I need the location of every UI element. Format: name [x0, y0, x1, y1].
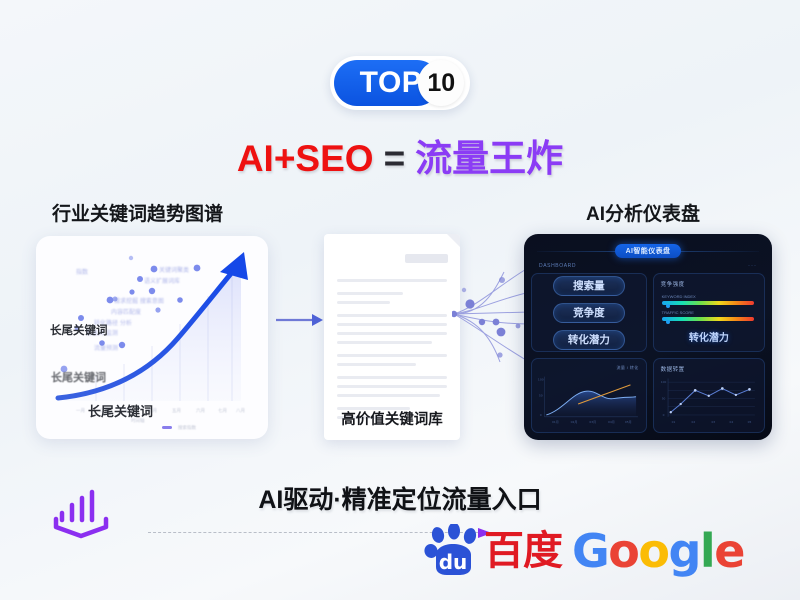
- right-section-caption: AI分析仪表盘: [586, 199, 700, 226]
- baidu-logo: du 百度: [424, 524, 562, 578]
- search-engine-logos: du 百度 Google: [424, 524, 744, 578]
- google-letter-o2: o: [638, 524, 668, 578]
- baidu-paw-icon: du: [424, 524, 482, 578]
- svg-text:语义扩展词库: 语义扩展词库: [144, 277, 180, 285]
- svg-text:一月: 一月: [76, 408, 85, 414]
- svg-text:五月: 五月: [172, 408, 181, 414]
- gauge-bar-2: [662, 317, 754, 321]
- dashboard-title-badge: AI智能仪表盘: [615, 244, 682, 258]
- keyword-library-document: 高价值关键词库: [324, 234, 460, 440]
- svg-text:关键词聚类: 关键词聚类: [159, 266, 189, 274]
- gauge-marker-1: [666, 304, 670, 308]
- footer-tagline: AI驱动·精准定位流量入口: [0, 480, 800, 516]
- top-badge-label: TOP: [360, 68, 423, 98]
- svg-text:八月: 八月: [236, 408, 245, 414]
- svg-text:内容匹配度: 内容匹配度: [111, 308, 141, 316]
- dashboard-panels: 搜索量 竞争度 转化潜力 竞争强度 KEYWORD INDEX: [531, 273, 765, 433]
- dashboard-header: AI智能仪表盘: [531, 241, 765, 261]
- gauge-bar-row: KEYWORD INDEX: [662, 294, 754, 305]
- gauge-panel: 竞争强度 KEYWORD INDEX TRAFFIC SCORE: [653, 273, 765, 352]
- area-chart: 01月02月 03月04月 05月 100500: [537, 373, 642, 428]
- svg-text:流量预测: 流量预测: [94, 344, 118, 352]
- svg-text:01月: 01月: [552, 420, 559, 424]
- svg-text:04: 04: [729, 420, 733, 424]
- svg-text:七月: 七月: [218, 407, 227, 414]
- google-letter-o1: o: [608, 524, 638, 578]
- svg-text:50: 50: [539, 394, 543, 398]
- baidu-mark-text: du: [439, 550, 468, 574]
- page-title: AI+SEO=流量王炸: [0, 128, 800, 182]
- svg-text:100: 100: [660, 380, 666, 384]
- svg-text:04月: 04月: [608, 420, 615, 424]
- svg-text:01: 01: [671, 420, 675, 424]
- metric-pills-panel: 搜索量 竞争度 转化潜力: [531, 273, 647, 352]
- slide-canvas: TOP 10 AI+SEO=流量王炸 行业关键词趋势图谱 AI分析仪表盘: [0, 0, 800, 600]
- google-letter-g2: g: [668, 524, 699, 578]
- headline-equals: =: [384, 138, 406, 179]
- document-caption: 高价值关键词库: [324, 408, 460, 429]
- flow-arrow-icon: [276, 313, 324, 327]
- document-text-lines: [337, 279, 447, 425]
- keyword-label-2: 长尾关键词: [51, 369, 106, 385]
- svg-text:05月: 05月: [625, 420, 632, 424]
- gauge-marker-2: [666, 320, 670, 324]
- keyword-label-1: 长尾关键词: [50, 322, 108, 338]
- area-panel-legend: 流量 / 转化: [617, 365, 639, 371]
- top-badge-number: 10: [418, 60, 464, 106]
- headline-right: 流量王炸: [415, 138, 563, 179]
- google-letter-l: l: [700, 524, 714, 578]
- svg-text:六月: 六月: [196, 407, 205, 414]
- svg-text:03: 03: [711, 420, 715, 424]
- svg-text:0: 0: [662, 413, 664, 417]
- google-letter-g1: G: [572, 524, 608, 578]
- data-line-panel: 数据转置: [653, 358, 765, 433]
- bar-chart-icon: [48, 486, 114, 544]
- svg-text:需求挖掘 搜索意图: 需求挖掘 搜索意图: [114, 297, 164, 305]
- headline-left: AI+SEO: [237, 138, 374, 179]
- left-section-caption: 行业关键词趋势图谱: [52, 199, 223, 226]
- gauge-bar-meta-2: TRAFFIC SCORE: [662, 310, 754, 315]
- gauge-overlay-label: 转化潜力: [654, 329, 764, 344]
- top-badge: TOP 10: [0, 56, 800, 110]
- metric-pill-search-volume[interactable]: 搜索量: [553, 276, 625, 296]
- baidu-logo-text: 百度: [484, 531, 562, 571]
- svg-text:指数: 指数: [76, 268, 88, 276]
- keyword-trend-card: 关键词聚类 语义扩展词库 需求挖掘 搜索意图 内容匹配度 转化路径 分析 竞品词…: [36, 236, 268, 439]
- google-logo: Google: [572, 528, 744, 574]
- top-badge-frame: TOP 10: [330, 56, 471, 110]
- document-header-chip: [405, 254, 448, 263]
- svg-text:02: 02: [691, 420, 695, 424]
- gauge-bar-1: [662, 301, 754, 305]
- traffic-area-panel: 流量 / 转化: [531, 358, 647, 433]
- neural-network-icon: [452, 262, 532, 366]
- line-chart: 0102 0304 05 100500: [659, 373, 760, 428]
- dashboard-menu-icon[interactable]: ···: [748, 263, 757, 269]
- metric-pill-conversion[interactable]: 转化潜力: [553, 330, 625, 350]
- metric-pill-competition[interactable]: 竞争度: [553, 303, 625, 323]
- svg-text:02月: 02月: [571, 420, 578, 424]
- svg-text:0: 0: [540, 413, 542, 417]
- svg-text:100: 100: [538, 378, 544, 382]
- line-panel-title: 数据转置: [661, 365, 685, 373]
- gauge-panel-title: 竞争强度: [661, 280, 685, 288]
- page-fold-icon: [447, 234, 460, 247]
- dashboard-subtitle: DASHBOARD: [539, 263, 576, 269]
- keyword-label-3: 长尾关键词: [88, 401, 153, 420]
- metric-pill-group: 搜索量 竞争度 转化潜力: [532, 274, 646, 351]
- ai-dashboard: AI智能仪表盘 DASHBOARD ··· 搜索量 竞争度 转化潜力 竞争强度: [524, 234, 772, 440]
- dashboard-inner: AI智能仪表盘 DASHBOARD ··· 搜索量 竞争度 转化潜力 竞争强度: [531, 241, 765, 433]
- gauge-bars: KEYWORD INDEX TRAFFIC SCORE: [662, 294, 754, 326]
- gauge-bar-meta-1: KEYWORD INDEX: [662, 294, 754, 299]
- svg-text:50: 50: [661, 397, 665, 401]
- google-letter-e: e: [714, 524, 744, 578]
- svg-text:搜索指数: 搜索指数: [178, 424, 196, 431]
- gauge-bar-row: TRAFFIC SCORE: [662, 310, 754, 321]
- svg-text:05: 05: [747, 420, 751, 424]
- svg-text:03月: 03月: [589, 420, 596, 424]
